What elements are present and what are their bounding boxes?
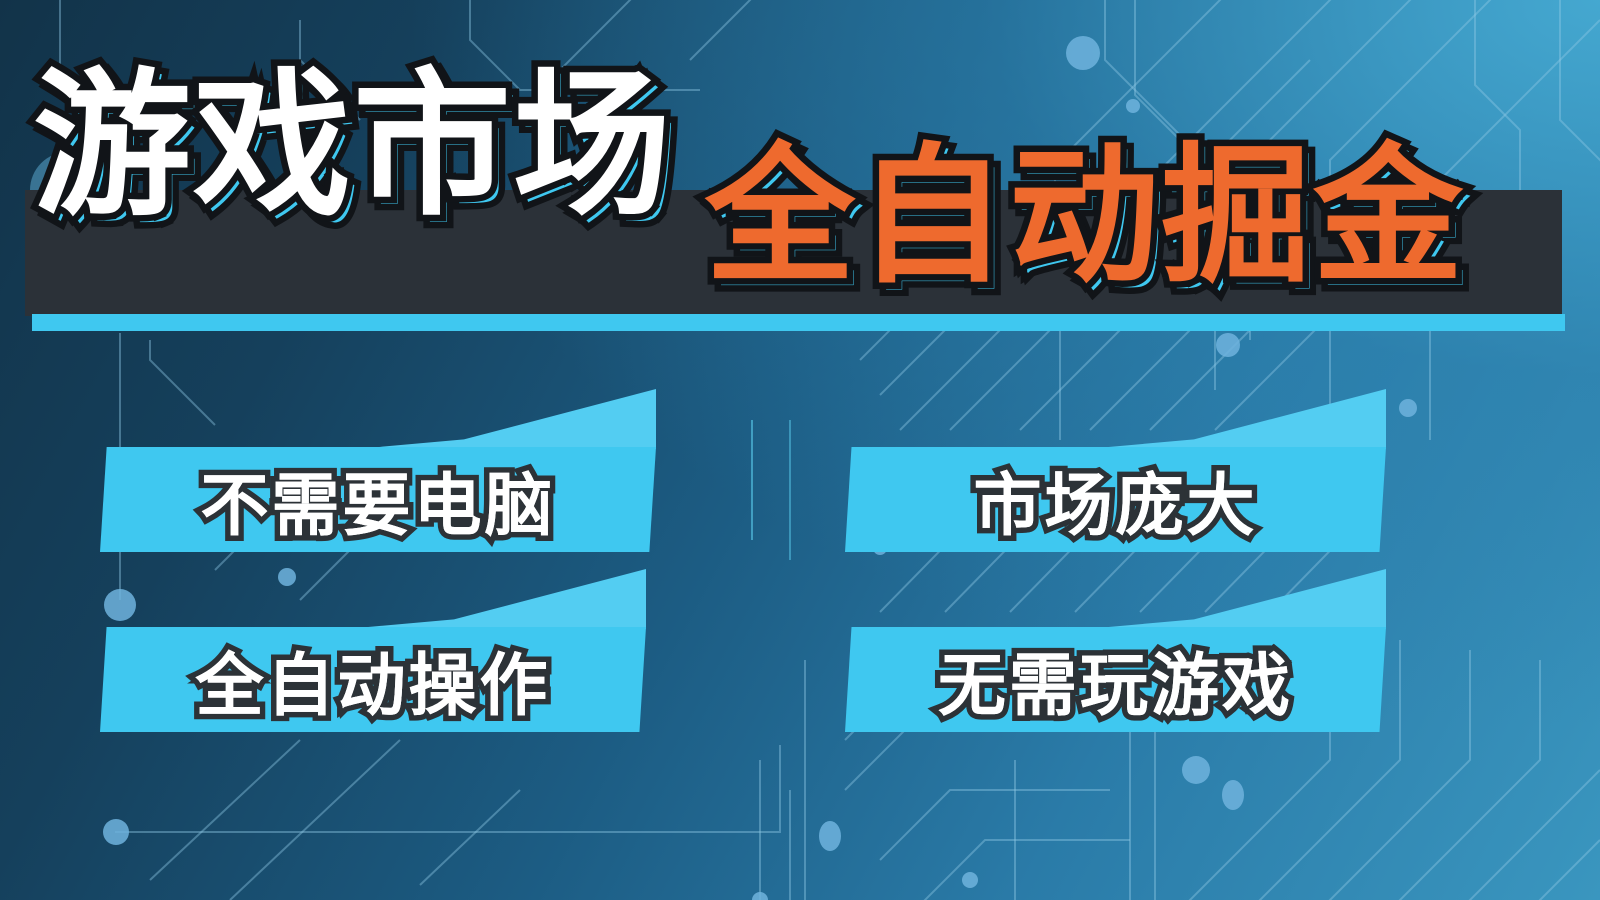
feature-box-2: 全自动操作 全自动操作: [100, 627, 646, 732]
swoosh-arrow-icon: [1086, 569, 1386, 629]
headline-primary-text: 游戏市场: [33, 67, 673, 225]
swoosh-arrow-icon: [1086, 389, 1386, 449]
feature-label: 不需要电脑: [100, 447, 656, 552]
feature-box-3: 无需玩游戏 无需玩游戏: [845, 627, 1386, 732]
feature-label: 全自动操作: [100, 627, 646, 732]
swoosh-arrow-icon: [356, 389, 656, 449]
feature-box-0: 不需要电脑 不需要电脑: [100, 447, 656, 552]
headline-accent-text: 全自动掘金: [705, 142, 1465, 292]
feature-label: 无需玩游戏: [845, 627, 1386, 732]
promo-banner: 游戏市场 游戏市场 游戏市场 全自动掘金 全自动掘金 全自动掘金 不需要电脑 不…: [0, 0, 1600, 900]
feature-box-1: 市场庞大 市场庞大: [845, 447, 1386, 552]
feature-label: 市场庞大: [845, 447, 1386, 552]
swoosh-arrow-icon: [346, 569, 646, 629]
headline: 游戏市场 游戏市场 游戏市场 全自动掘金 全自动掘金 全自动掘金: [0, 0, 1600, 340]
